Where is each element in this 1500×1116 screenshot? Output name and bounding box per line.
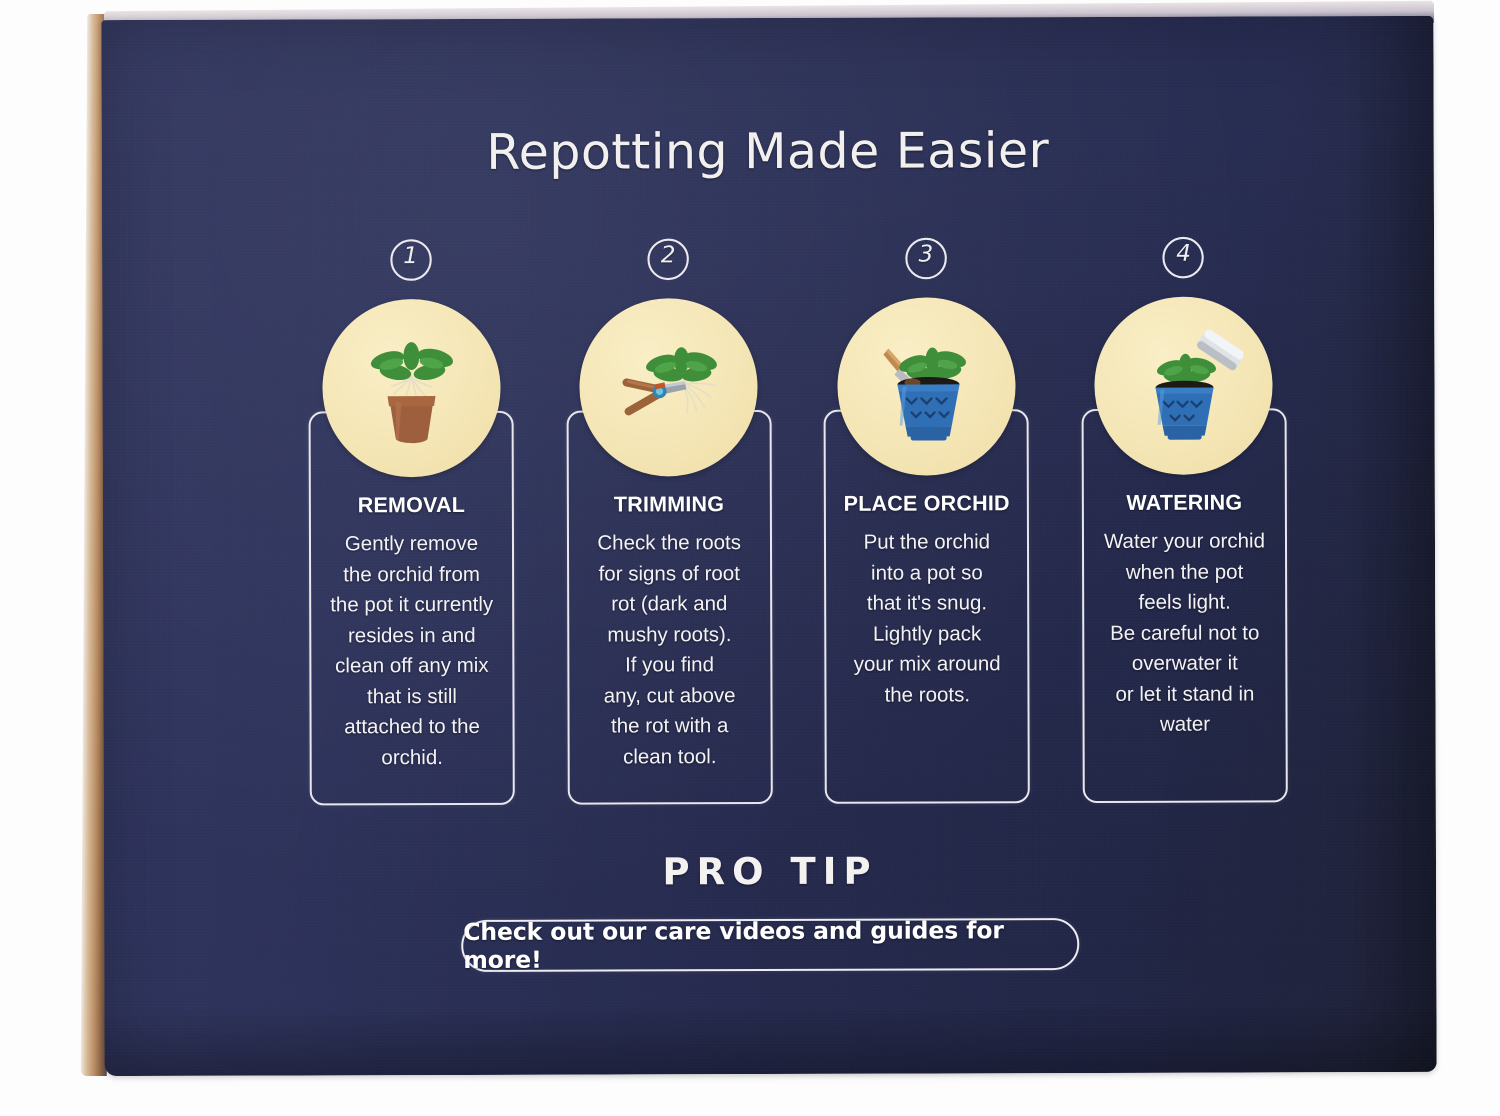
step-heading-3: PLACE ORCHID [823,491,1030,517]
step-heading-4: WATERING [1081,490,1288,516]
panel-content: Repotting Made Easier 1 [101,16,1436,1076]
step-body-3: Put the orchid into a pot so that it's s… [825,527,1029,711]
step-number-text-4: 4 [1161,241,1207,267]
watering-can-pouring-on-orchid-icon [1095,296,1274,475]
step-2-trimming: 2 [565,236,772,283]
step-body-1: Gently remove the orchid from the pot it… [310,529,514,774]
step-body-4: Water your orchid when the pot feels lig… [1083,526,1287,740]
step-4-watering: 4 [1080,234,1287,281]
step-body-2: Check the roots for signs of root rot (d… [568,528,772,773]
step-number-badge-4: 4 [1160,235,1206,281]
protip-label: PRO TIP [104,848,1436,895]
care-videos-cta[interactable]: Check out our care videos and guides for… [461,918,1079,972]
steps-row: 1 [307,234,1287,283]
step-number-text-2: 2 [645,242,691,268]
step-number-badge-2: 2 [645,236,691,282]
page-title: Repotting Made Easier [102,121,1434,182]
step-3-place-orchid: 3 [822,235,1029,282]
step-heading-1: REMOVAL [308,493,515,519]
step-number-badge-1: 1 [388,237,434,283]
orchid-in-terracotta-pot-icon [322,299,501,478]
pruning-shears-trimming-roots-icon [579,298,758,477]
step-1-removal: 1 [307,237,514,284]
step-number-text-3: 3 [903,241,949,267]
product-box-photo: Repotting Made Easier 1 [0,0,1500,1116]
orchid-placed-in-blue-pot-icon [837,297,1016,476]
step-heading-2: TRIMMING [565,492,772,518]
step-number-badge-3: 3 [903,235,949,281]
box-front-panel: Repotting Made Easier 1 [101,16,1436,1076]
care-videos-cta-label: Check out our care videos and guides for… [463,916,1077,974]
step-number-text-1: 1 [388,243,434,269]
